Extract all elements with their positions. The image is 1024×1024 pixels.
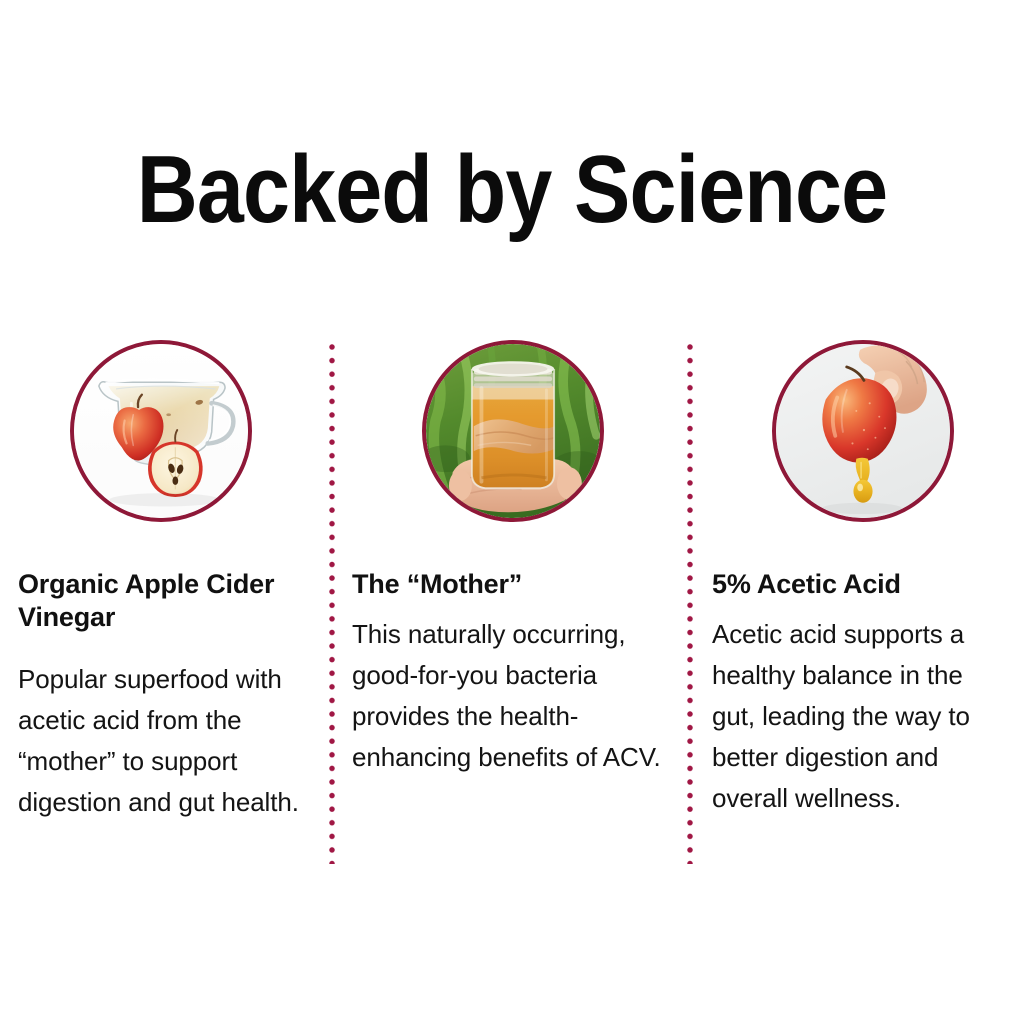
- feature-column-acetic-acid: 5% Acetic Acid Acetic acid supports a he…: [712, 340, 1004, 819]
- feature-body-3: Acetic acid supports a healthy balance i…: [712, 614, 1004, 819]
- feature-column-the-mother: The “Mother” This naturally occurring, g…: [352, 340, 674, 778]
- feature-heading-2: The “Mother”: [352, 568, 674, 601]
- feature-heading-1: Organic Apple Cider Vinegar: [18, 568, 314, 634]
- circle-image-mother-jar: [422, 340, 604, 522]
- feature-body-1: Popular superfood with acetic acid from …: [18, 659, 314, 823]
- infographic-page: Backed by Science: [0, 0, 1024, 1024]
- column-divider-1: [329, 344, 335, 864]
- circle-image-apple-cider-vinegar: [70, 340, 252, 522]
- mother-jar-photo: [426, 344, 600, 518]
- column-divider-2: [687, 344, 693, 864]
- feature-heading-3: 5% Acetic Acid: [712, 568, 1004, 601]
- feature-body-2: This naturally occurring, good-for-you b…: [352, 614, 674, 778]
- acv-pitcher-photo: [74, 344, 248, 518]
- circle-image-dripping-apple: [772, 340, 954, 522]
- dripping-apple-photo: [776, 344, 950, 518]
- page-title: Backed by Science: [61, 138, 962, 242]
- feature-column-organic-apple-cider-vinegar: Organic Apple Cider Vinegar Popular supe…: [18, 340, 314, 823]
